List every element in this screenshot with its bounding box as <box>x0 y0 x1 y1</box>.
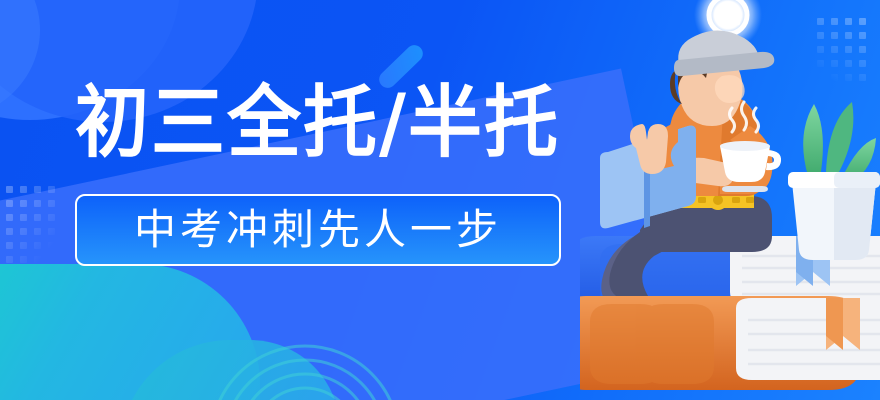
cap-icon <box>674 30 774 76</box>
banner-headline: 初三全托/半托 <box>75 84 575 162</box>
concentric-rings-decoration <box>190 290 420 400</box>
promo-banner: 初三全托/半托 中考冲刺先人一步 <box>0 0 880 400</box>
banner-copy: 初三全托/半托 中考冲刺先人一步 <box>75 84 575 266</box>
left-dot-grid-decoration <box>6 186 55 263</box>
banner-subtitle-box: 中考冲刺先人一步 <box>75 194 561 266</box>
banner-subtitle: 中考冲刺先人一步 <box>134 209 502 251</box>
book-orange <box>580 296 880 390</box>
potted-plant-icon <box>788 102 880 260</box>
banner-illustration <box>580 0 880 400</box>
